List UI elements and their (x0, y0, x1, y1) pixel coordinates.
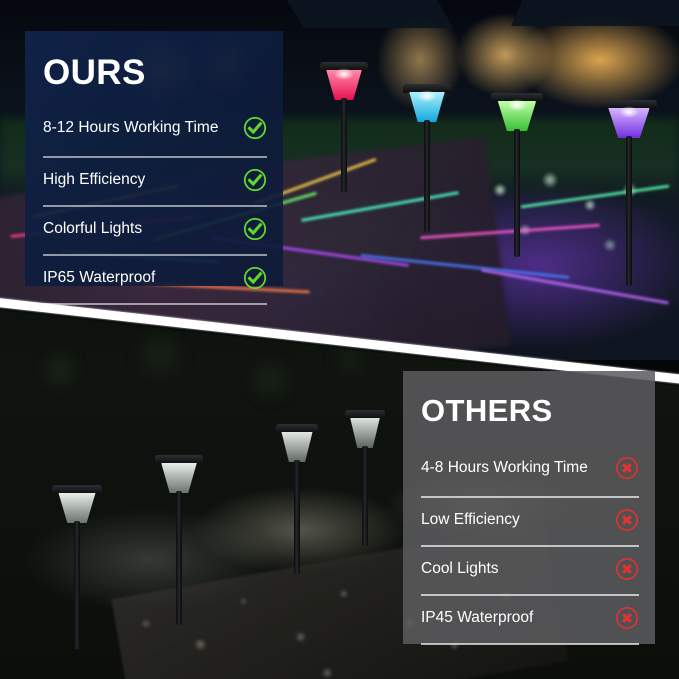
solar-panel-cap (52, 485, 102, 494)
others-feature-row: Low Efficiency (421, 498, 639, 547)
feature-label: Cool Lights (421, 560, 615, 577)
house-roof-right (511, 0, 679, 26)
lamp-pole (294, 460, 300, 574)
solar-panel-cap (276, 424, 318, 433)
others-feature-row: IP45 Waterproof (421, 596, 639, 645)
led-glow (417, 90, 437, 102)
check-circle-icon (243, 168, 267, 192)
solar-panel-cap (155, 455, 203, 464)
others-feature-row: 4-8 Hours Working Time (421, 443, 639, 498)
solar-lamp-white (52, 485, 102, 650)
solar-lamp-white (345, 410, 385, 545)
ours-feature-list: 8-12 Hours Working Time High Efficiency (25, 93, 283, 305)
feature-label: Colorful Lights (43, 220, 243, 237)
check-circle-icon (243, 266, 267, 290)
check-circle-icon (243, 116, 267, 140)
others-feature-list: 4-8 Hours Working Time Low Efficiency (403, 429, 655, 645)
others-feature-row: Cool Lights (421, 547, 639, 596)
cross-circle-icon (615, 557, 639, 581)
panel-others-title: OTHERS (403, 371, 655, 429)
feature-label: Low Efficiency (421, 511, 615, 528)
feature-label: High Efficiency (43, 171, 243, 188)
lamp-pole (341, 98, 347, 192)
house-roof-left (277, 0, 454, 28)
solar-lamp-purple (601, 100, 657, 290)
feature-label: 4-8 Hours Working Time (421, 459, 615, 476)
lamp-pole (176, 491, 182, 625)
lamp-pole (74, 521, 80, 649)
feature-label: IP65 Waterproof (43, 269, 243, 286)
solar-lamp-white (155, 455, 203, 625)
ours-feature-row: Colorful Lights (43, 207, 267, 256)
panel-ours-title: OURS (25, 31, 283, 93)
lamp-shade (161, 463, 197, 493)
ours-feature-row: 8-12 Hours Working Time (43, 103, 267, 158)
check-circle-icon (243, 217, 267, 241)
led-glow (334, 68, 354, 80)
lamp-pole (626, 136, 632, 286)
panel-others: OTHERS 4-8 Hours Working Time Low Effici… (403, 371, 655, 644)
cross-circle-icon (615, 508, 639, 532)
lamp-pole (514, 129, 520, 257)
solar-lamp-red (320, 62, 368, 192)
cross-circle-icon (615, 456, 639, 480)
solar-panel-cap (345, 410, 385, 419)
lamp-shade (281, 432, 312, 462)
comparison-infographic: OURS 8-12 Hours Working Time High Effici… (0, 0, 679, 679)
panel-ours: OURS 8-12 Hours Working Time High Effici… (25, 31, 283, 286)
ours-feature-row: IP65 Waterproof (43, 256, 267, 305)
led-glow (507, 99, 527, 111)
solar-lamp-green (491, 93, 543, 258)
lamp-pole (362, 446, 368, 546)
lamp-pole (424, 120, 430, 232)
solar-lamp-white (276, 424, 318, 574)
lamp-shade (59, 493, 96, 523)
lamp-shade (350, 418, 380, 448)
feature-label: 8-12 Hours Working Time (43, 119, 243, 136)
led-glow (619, 106, 639, 118)
solar-lamp-cyan (403, 84, 451, 234)
ours-feature-row: High Efficiency (43, 158, 267, 207)
cross-circle-icon (615, 606, 639, 630)
feature-label: IP45 Waterproof (421, 609, 615, 626)
